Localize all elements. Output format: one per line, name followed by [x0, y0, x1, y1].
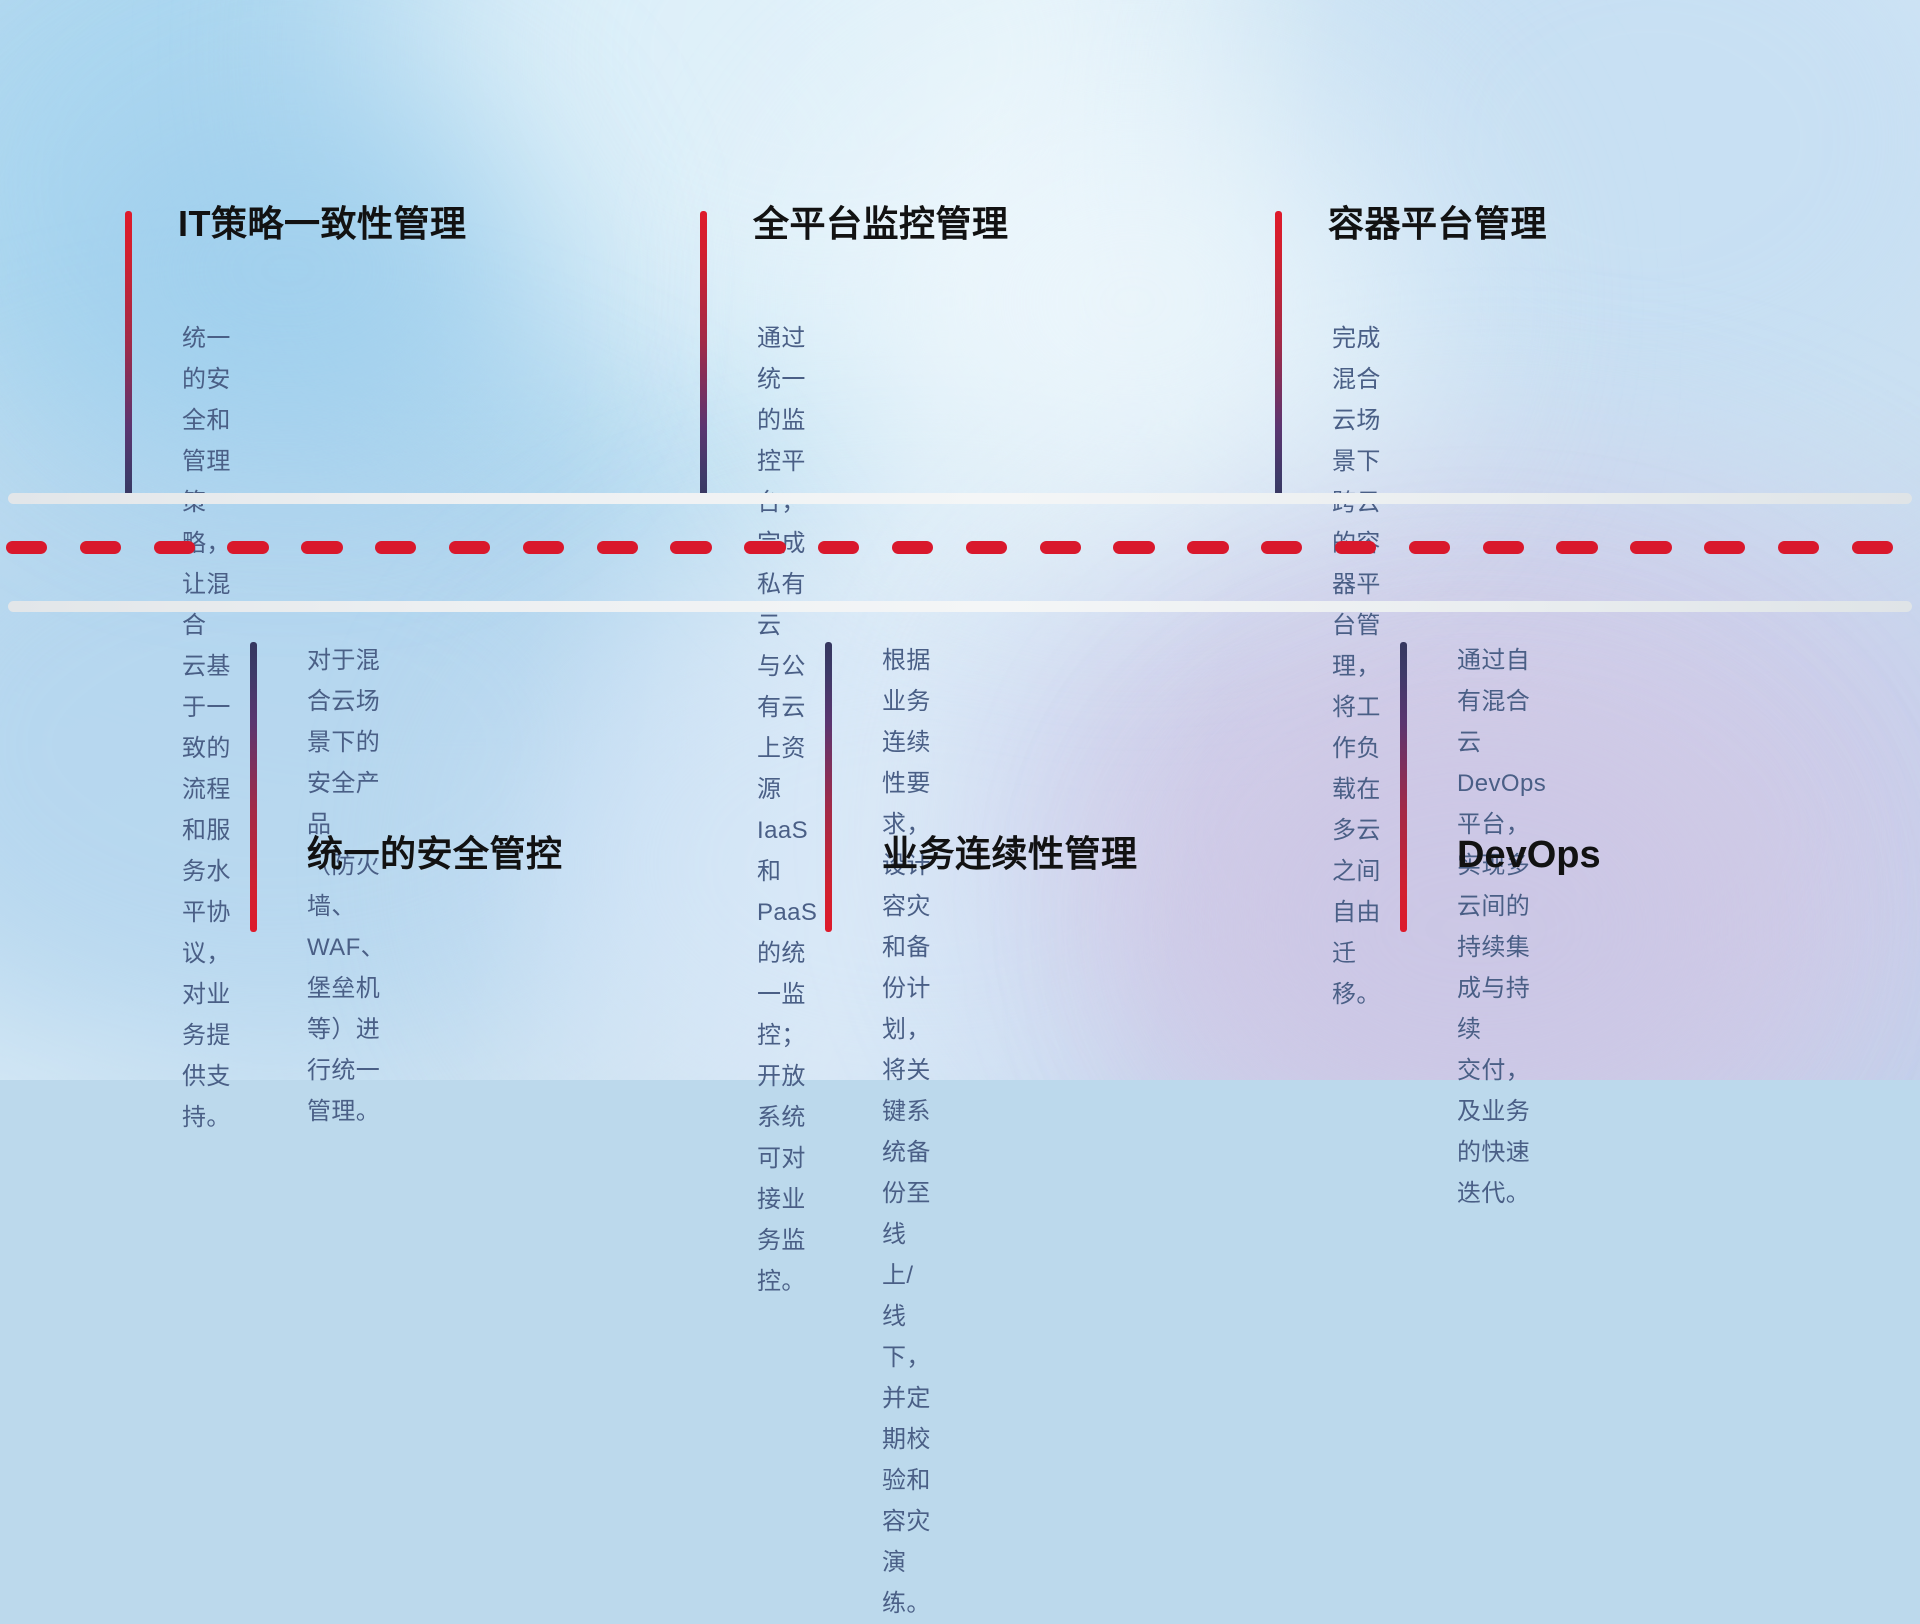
divider-dash: [1852, 541, 1893, 554]
divider-dash: [1040, 541, 1081, 554]
divider-dash: [1335, 541, 1376, 554]
divider-dash: [1483, 541, 1524, 554]
connector-line: [1400, 642, 1407, 932]
divider-dash: [301, 541, 342, 554]
divider-dash: [818, 541, 859, 554]
divider-dash: [449, 541, 490, 554]
connector-line: [250, 642, 257, 932]
connector-line: [700, 211, 707, 503]
top-item-paragraph: 统一的安全和管理策略，让混合 云基于一致的流程和服务水平协 议，对业务提供支持。: [182, 318, 231, 1138]
bottom-item-heading: 业务连续性管理: [882, 836, 1138, 872]
bottom-item-heading: 统一的安全管控: [307, 836, 563, 872]
divider-dash: [1630, 541, 1671, 554]
bottom-item-heading: DevOps: [1457, 836, 1601, 874]
divider-dash: [523, 541, 564, 554]
bottom-item-paragraph: 根据业务连续性要求，设计容灾 和备份计划，将关键系统备份至 线上/线下，并定期校…: [882, 640, 931, 1624]
divider-dash: [966, 541, 1007, 554]
top-item-heading: IT策略一致性管理: [178, 206, 467, 242]
divider-dash: [1261, 541, 1302, 554]
divider-dash: [892, 541, 933, 554]
divider-dash: [1409, 541, 1450, 554]
top-item-paragraph: 通过统一的监控平台，完成私有云 与公有云上资源IaaS和PaaS的统 一监控；开…: [757, 318, 817, 1302]
top-item-paragraph: 完成混合云场景下跨云的容器平 台管理，将工作负载在多云之间 自由迁移。: [1332, 318, 1381, 1015]
connector-line: [825, 642, 832, 932]
divider-dash: [6, 541, 47, 554]
divider-dash: [1113, 541, 1154, 554]
divider-dash: [670, 541, 711, 554]
top-item-heading: 容器平台管理: [1328, 206, 1547, 242]
connector-line: [125, 211, 132, 503]
top-item-heading: 全平台监控管理: [753, 206, 1009, 242]
bottom-item-paragraph: 对于混合云场景下的安全产品 （防火墙、WAF、堡垒机等）进 行统一管理。: [307, 640, 385, 1132]
divider-dash: [80, 541, 121, 554]
bottom-item-paragraph: 通过自有混合云DevOps平台， 实现多云间的持续集成与持续 交付，及业务的快速…: [1457, 640, 1546, 1214]
divider-dash: [227, 541, 268, 554]
divider-dash: [597, 541, 638, 554]
divider-band-bottom: [8, 601, 1912, 612]
divider-dash: [744, 541, 785, 554]
divider-dash: [375, 541, 416, 554]
hybrid-cloud-divider: [0, 488, 1920, 614]
divider-dash: [154, 541, 195, 554]
divider-dash: [1778, 541, 1819, 554]
divider-band-top: [8, 493, 1912, 504]
divider-dash: [1187, 541, 1228, 554]
divider-dashed-line: [0, 541, 1920, 554]
divider-dash: [1704, 541, 1745, 554]
divider-dash: [1556, 541, 1597, 554]
connector-line: [1275, 211, 1282, 503]
